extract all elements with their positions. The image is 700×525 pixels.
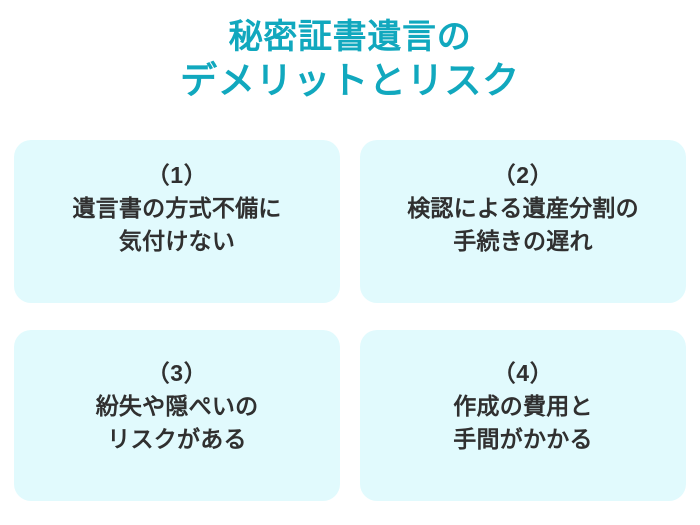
risk-card-3: （3） 紛失や隠ぺいの リスクがある xyxy=(14,330,340,501)
risk-card-1-line-1: 遺言書の方式不備に xyxy=(72,192,281,225)
infographic-root: 秘密証書遺言の デメリットとリスク （1） 遺言書の方式不備に 気付けない （2… xyxy=(0,0,700,525)
risk-card-4: （4） 作成の費用と 手間がかかる xyxy=(360,330,686,501)
risk-card-2-line-2: 手続きの遅れ xyxy=(453,225,592,258)
risk-card-1-index: （1） xyxy=(147,158,208,192)
risk-card-4-line-2: 手間がかかる xyxy=(453,423,592,456)
risk-card-4-index: （4） xyxy=(493,356,554,390)
risk-card-4-line-1: 作成の費用と xyxy=(453,390,592,423)
risk-card-2: （2） 検認による遺産分割の 手続きの遅れ xyxy=(360,140,686,303)
risk-card-3-line-2: リスクがある xyxy=(107,423,246,456)
risk-card-2-index: （2） xyxy=(493,158,554,192)
risk-card-3-index: （3） xyxy=(147,356,208,390)
risk-card-1-line-2: 気付けない xyxy=(119,225,235,258)
risk-card-1: （1） 遺言書の方式不備に 気付けない xyxy=(14,140,340,303)
risk-card-2-line-1: 検認による遺産分割の xyxy=(407,192,639,225)
page-title-line-1: 秘密証書遺言の xyxy=(0,16,700,58)
page-title-line-2: デメリットとリスク xyxy=(0,58,700,103)
risk-card-3-line-1: 紛失や隠ぺいの xyxy=(96,390,259,423)
page-title: 秘密証書遺言の デメリットとリスク xyxy=(0,16,700,103)
risk-card-grid: （1） 遺言書の方式不備に 気付けない （2） 検認による遺産分割の 手続きの遅… xyxy=(14,140,686,501)
